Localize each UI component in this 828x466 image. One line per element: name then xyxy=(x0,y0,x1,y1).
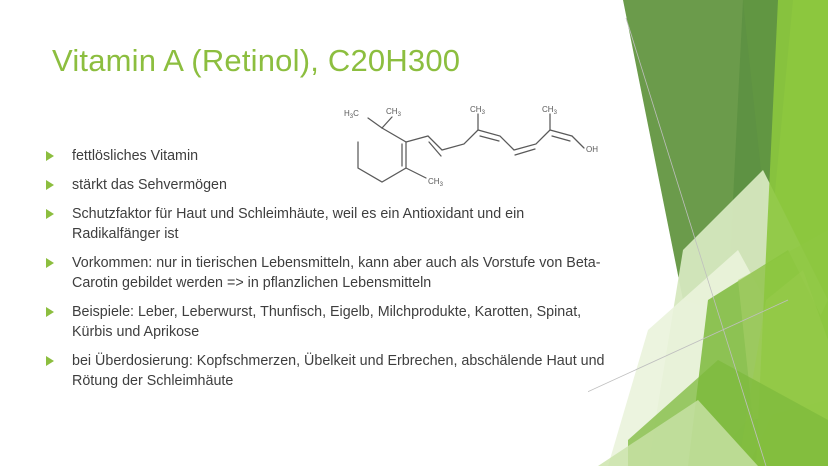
list-item: bei Überdosierung: Kopfschmerzen, Übelke… xyxy=(46,351,614,391)
facet-pale-sliver xyxy=(738,270,828,466)
list-item: Schutzfaktor für Haut und Schleimhäute, … xyxy=(46,204,614,244)
triangle-bullet-icon xyxy=(46,146,72,161)
page-title: Vitamin A (Retinol), C20H300 xyxy=(52,42,592,80)
triangle-bullet-icon xyxy=(46,253,72,268)
hairline-top-diagonal xyxy=(626,18,766,466)
list-item-text: Beispiele: Leber, Leberwurst, Thunfisch,… xyxy=(72,302,614,342)
triangle-bullet-icon xyxy=(46,204,72,219)
gem-methyl-right-bond xyxy=(382,117,392,128)
list-item-text: Schutzfaktor für Haut und Schleimhäute, … xyxy=(72,204,614,244)
triangle-bullet-icon xyxy=(46,302,72,317)
facet-pale-mid xyxy=(648,170,828,466)
facet-bottom-pale xyxy=(598,400,758,466)
facet-bright-overlay-right xyxy=(756,0,828,466)
triangle-bullet-icon xyxy=(46,175,72,190)
facet-dark-top xyxy=(623,0,778,330)
list-item: Beispiele: Leber, Leberwurst, Thunfisch,… xyxy=(46,302,614,342)
chain-double-4 xyxy=(552,136,570,141)
list-item: Vorkommen: nur in tierischen Lebensmitte… xyxy=(46,253,614,293)
facet-hairlines xyxy=(588,18,788,466)
facet-bright-right xyxy=(698,0,828,466)
facet-shapes xyxy=(598,0,828,466)
list-item-text: stärkt das Sehvermögen xyxy=(72,175,614,195)
gem-methyl-left-bond xyxy=(368,118,382,128)
facet-verypale-lower xyxy=(608,250,798,466)
list-item-text: Vorkommen: nur in tierischen Lebensmitte… xyxy=(72,253,614,293)
facet-dark-wedge xyxy=(728,0,793,320)
list-item: fettlösliches Vitamin xyxy=(46,146,614,166)
facet-bottom-green xyxy=(628,360,828,466)
facet-mid-green-lower xyxy=(688,250,828,466)
list-item-text: fettlösliches Vitamin xyxy=(72,146,614,166)
presentation-slide: Vitamin A (Retinol), C20H300 xyxy=(0,0,828,466)
facet-decoration-svg xyxy=(588,0,828,466)
chain-double-2 xyxy=(480,136,499,141)
facet-decoration xyxy=(588,0,828,466)
list-item: stärkt das Sehvermögen xyxy=(46,175,614,195)
label-methyl-top-right: CH3 xyxy=(386,107,402,118)
list-item-text: bei Überdosierung: Kopfschmerzen, Übelke… xyxy=(72,351,614,391)
label-methyl-top-left: H3C xyxy=(344,109,359,120)
facet-light-overlay xyxy=(738,230,828,420)
hairline-lower-diagonal xyxy=(588,300,788,410)
triangle-bullet-icon xyxy=(46,351,72,366)
bullet-list: fettlösliches Vitamin stärkt das Sehverm… xyxy=(46,146,614,400)
